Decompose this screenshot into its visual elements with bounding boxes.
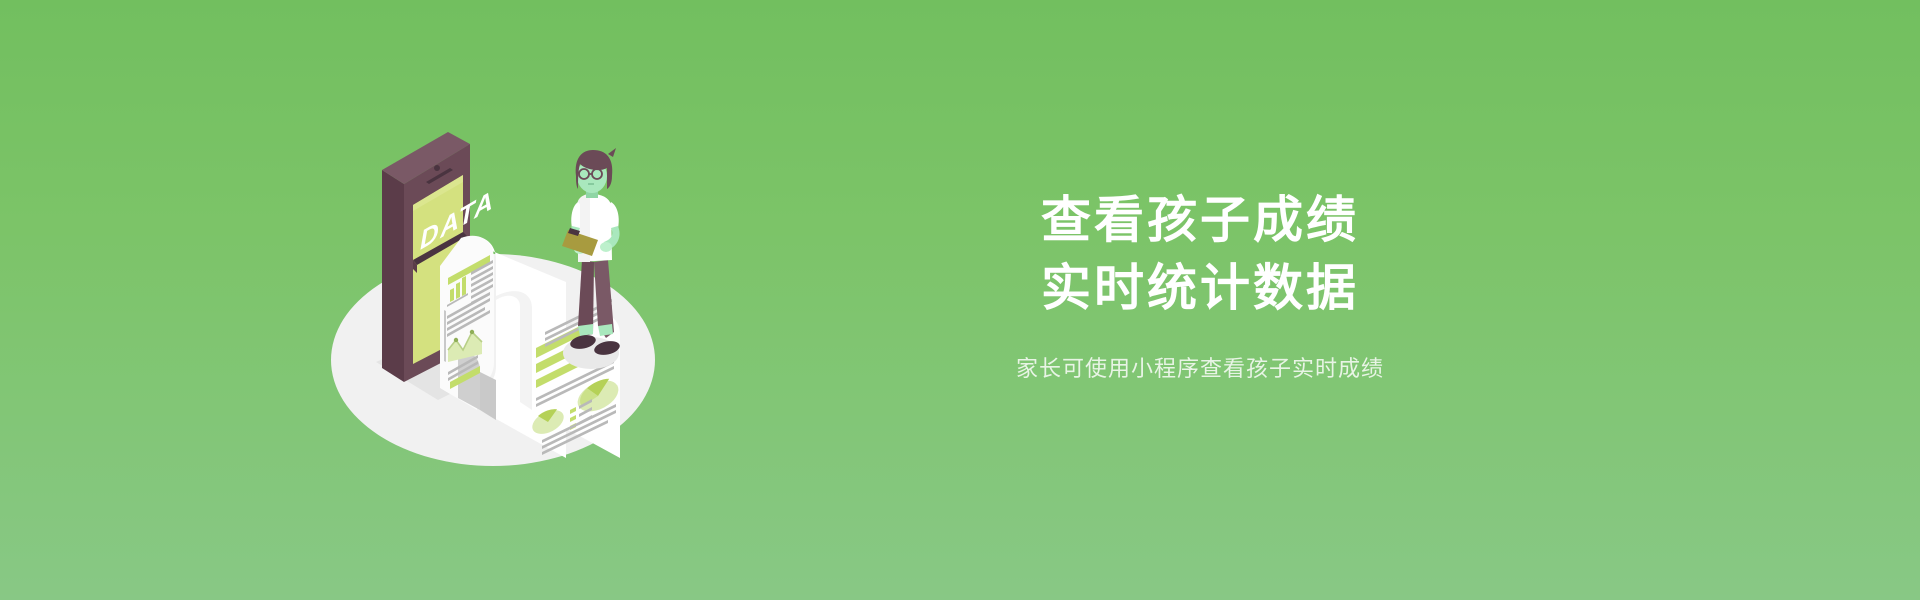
person-sock-front [598,324,613,336]
data-illustration: DATA [330,110,710,470]
person-hair-tuft [608,148,616,157]
person-sleeve-left [571,202,580,228]
banner-copy: 查看孩子成绩 实时统计数据 家长可使用小程序查看孩子实时成绩 [830,190,1570,384]
phone-camera-dot [434,165,440,171]
receipt-dotted-axis [444,310,446,362]
receipt-chart-point-2 [470,330,474,334]
headline-line-1: 查看孩子成绩 [830,190,1570,250]
person-sleeve-right [610,202,619,228]
person-hand-right [600,242,612,252]
receipt-chart-point-1 [454,338,458,342]
person-sock-back [578,324,593,336]
banner-subtitle: 家长可使用小程序查看孩子实时成绩 [830,354,1570,384]
phone-side-left [382,170,404,382]
headline-line-2: 实时统计数据 [830,258,1570,318]
promo-banner: DATA [0,0,1920,600]
